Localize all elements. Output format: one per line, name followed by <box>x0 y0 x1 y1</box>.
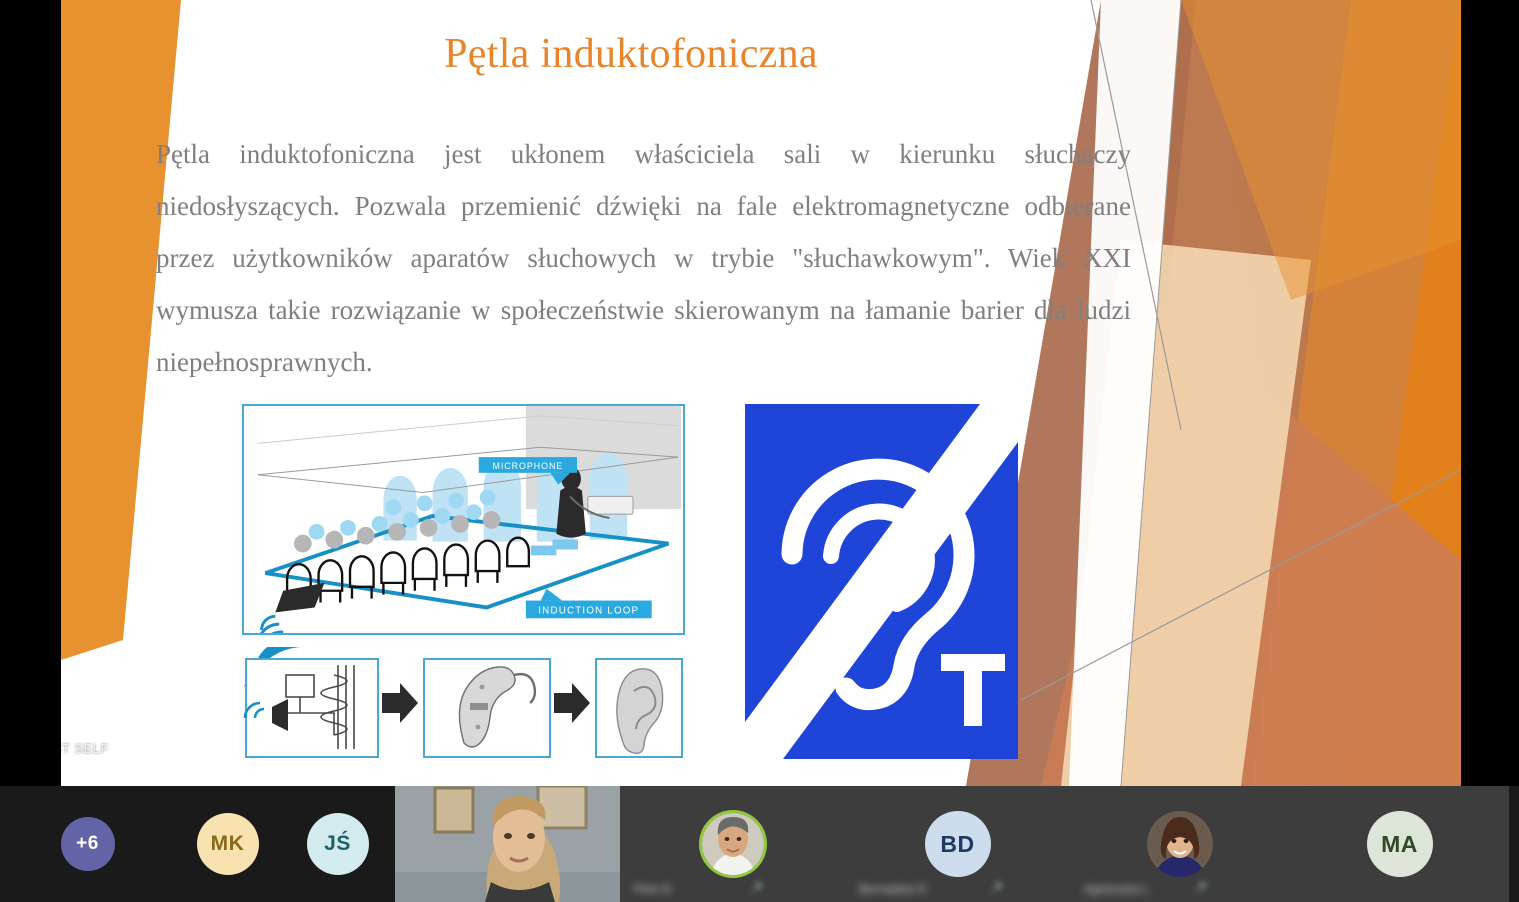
hearing-loop-symbol <box>745 404 1018 759</box>
presentation-slide[interactable]: Pętla induktofoniczna Pętla induktofonic… <box>61 0 1461 786</box>
avatar-initials: JŚ <box>324 832 351 856</box>
avatar-photo-agnieszka[interactable] <box>1147 811 1213 877</box>
avatar-js[interactable]: JŚ <box>307 813 369 875</box>
avatar-mk[interactable]: MK <box>197 813 259 875</box>
slide-title: Pętla induktofoniczna <box>61 30 1461 78</box>
avatar-initials: BD <box>940 831 974 858</box>
avatar-initials: +6 <box>76 833 99 855</box>
svg-text:INDUCTION LOOP: INDUCTION LOOP <box>538 605 639 616</box>
mic-muted-icon: 🎤 <box>1192 882 1207 896</box>
avatar-ma[interactable]: MA <box>1367 811 1433 877</box>
mic-muted-icon: 🎤 <box>748 882 763 896</box>
avatar-initials: MA <box>1381 831 1418 858</box>
induction-loop-signal-chain <box>242 647 685 762</box>
participant-tile-overflow[interactable]: +6 <box>0 786 175 902</box>
watermark-label: CST SELF <box>61 741 109 756</box>
participant-name: Agnieszka L <box>1084 882 1149 896</box>
participant-tile-video[interactable] <box>395 786 620 902</box>
participant-tile-ma[interactable]: MA <box>1290 786 1509 902</box>
participant-name: Bernadeta D <box>859 882 926 896</box>
meeting-screen: Pętla induktofoniczna Pętla induktofonic… <box>0 0 1519 902</box>
participant-name: Piotr N <box>634 882 671 896</box>
induction-loop-figure[interactable]: MICROPHONE INDUCTION LOOP <box>242 404 1018 762</box>
avatar-overflow[interactable]: +6 <box>61 817 115 871</box>
participant-tile-piotr[interactable]: Piotr N 🎤 <box>620 786 845 902</box>
svg-text:MICROPHONE: MICROPHONE <box>493 461 564 471</box>
participant-tile-bd[interactable]: BD Bernadeta D 🎤 <box>845 786 1070 902</box>
avatar-bd[interactable]: BD <box>925 811 991 877</box>
video-feed <box>395 786 620 902</box>
induction-loop-room-illustration: MICROPHONE INDUCTION LOOP <box>242 404 685 635</box>
slide-paragraph: Pętla induktofoniczna jest ukłonem właśc… <box>156 128 1131 388</box>
participant-tile-agnieszka[interactable]: Agnieszka L 🎤 <box>1070 786 1290 902</box>
participant-tile-js[interactable]: JŚ <box>280 786 395 902</box>
mic-muted-icon: 🎤 <box>988 882 1003 896</box>
participant-tile-mk[interactable]: MK <box>175 786 280 902</box>
participant-strip[interactable]: +6 MK JŚ <box>0 786 1519 902</box>
avatar-photo-piotr[interactable] <box>702 813 764 875</box>
avatar-initials: MK <box>211 832 245 856</box>
screen-share-stage[interactable]: Pętla induktofoniczna Pętla induktofonic… <box>0 0 1519 786</box>
slide-body-text: Pętla induktofoniczna jest ukłonem właśc… <box>156 128 1131 388</box>
